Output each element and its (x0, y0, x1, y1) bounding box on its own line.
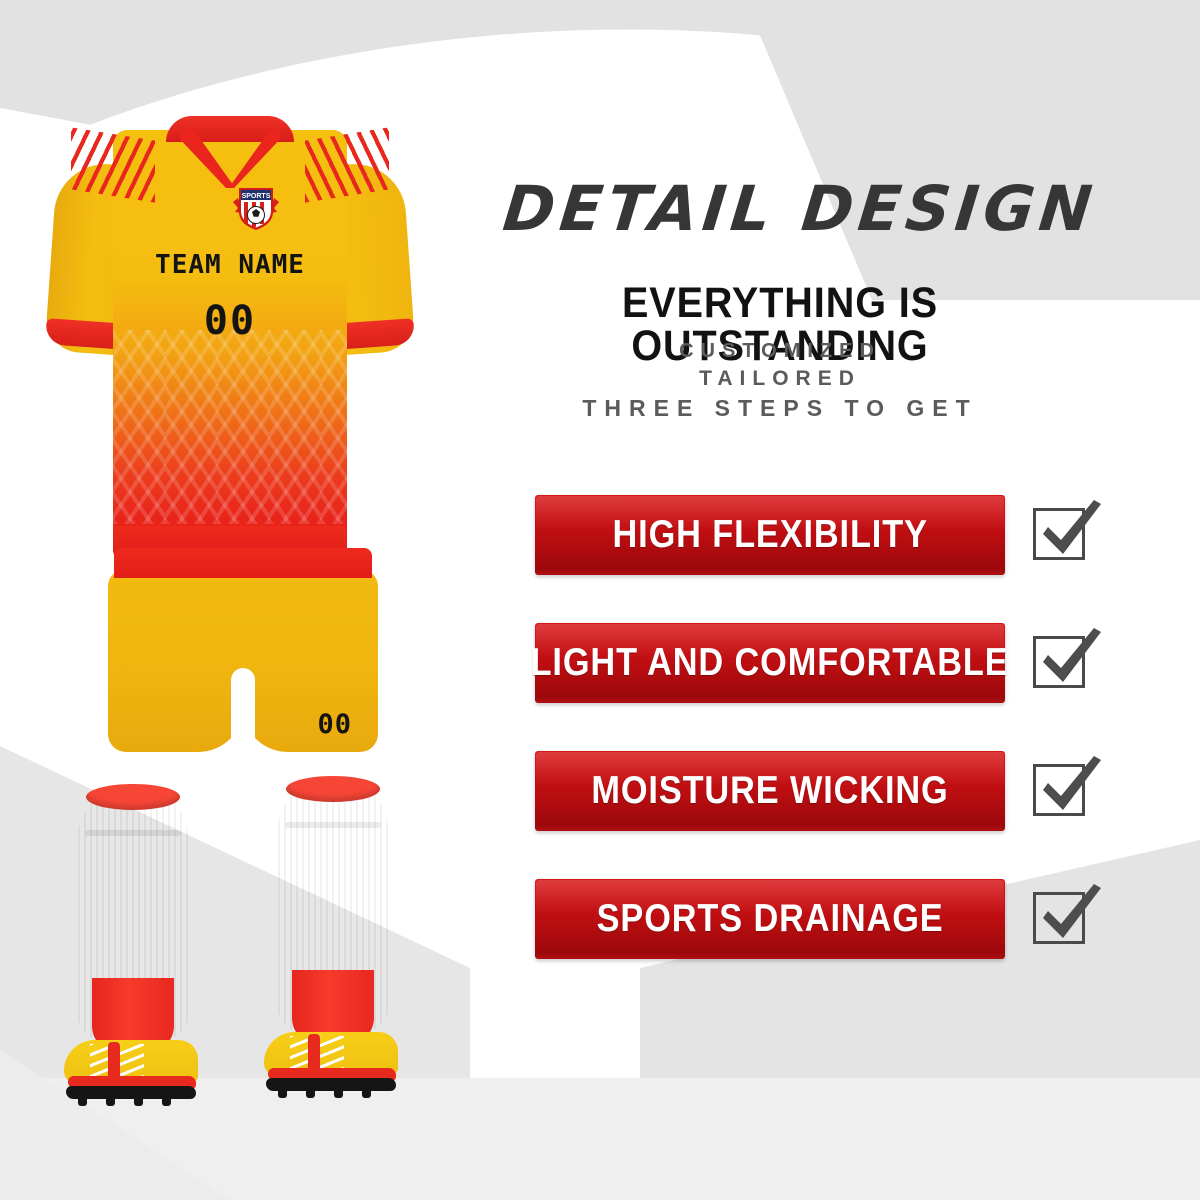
feature-row: LIGHT AND COMFORTABLE (535, 623, 1135, 703)
feature-list: HIGH FLEXIBILITY LIGHT AND COMFORTABLE (535, 495, 1135, 1007)
jersey-v-collar (166, 116, 294, 190)
cleat-stud (362, 1090, 371, 1098)
cleat-stud (162, 1098, 171, 1106)
check-icon (1031, 618, 1107, 696)
feature-label: LIGHT AND COMFORTABLE (531, 641, 1009, 685)
tagline-group: CUSTOMIZED TAILORED THREE STEPS TO GET (450, 338, 1110, 424)
feature-label: SPORTS DRAINAGE (597, 897, 944, 941)
feature-row: HIGH FLEXIBILITY (535, 495, 1135, 575)
feature-row: MOISTURE WICKING (535, 751, 1135, 831)
jersey-team-name: TEAM NAME (155, 250, 305, 280)
soccer-uniform-illustration: SPORTS TEAM NAME 00 00 (0, 0, 500, 1200)
team-crest-icon: SPORTS (233, 182, 279, 232)
cleat-stud (306, 1090, 315, 1098)
feature-label: MOISTURE WICKING (591, 769, 948, 813)
leg-right (278, 782, 388, 1032)
feature-banner-high-flexibility[interactable]: HIGH FLEXIBILITY (535, 495, 1005, 575)
feature-row: SPORTS DRAINAGE (535, 879, 1135, 959)
checkbox-sports-drainage[interactable] (1033, 892, 1085, 944)
tagline-three-steps: THREE STEPS TO GET (450, 393, 1110, 424)
jersey-shoulder-stripes-left (71, 127, 155, 202)
feature-banner-light-and-comfortable[interactable]: LIGHT AND COMFORTABLE (535, 623, 1005, 703)
cleat-stud (334, 1090, 343, 1098)
shorts-graphic: 00 (108, 548, 378, 758)
jersey-graphic: SPORTS TEAM NAME 00 (55, 120, 405, 570)
tagline-tailored: TAILORED (450, 365, 1110, 393)
checkbox-light-and-comfortable[interactable] (1033, 636, 1085, 688)
product-detail-graphic: SPORTS TEAM NAME 00 00 (0, 0, 1200, 1200)
jersey-chevron-pattern (113, 330, 347, 524)
cleat-lace-tongue-left (108, 1042, 120, 1080)
checkbox-high-flexibility[interactable] (1033, 508, 1085, 560)
cleat-right (264, 1028, 398, 1100)
shorts-number: 00 (317, 709, 352, 740)
check-icon (1031, 874, 1107, 952)
feature-banner-sports-drainage[interactable]: SPORTS DRAINAGE (535, 879, 1005, 959)
crest-label: SPORTS (242, 193, 271, 200)
cleat-stud (278, 1090, 287, 1098)
cleat-lace-tongue-right (308, 1034, 320, 1072)
check-icon (1031, 746, 1107, 824)
shorts-waistband (114, 548, 372, 578)
jersey-shoulder-stripes-right (305, 127, 389, 202)
cleat-stud (106, 1098, 115, 1106)
leg-left (78, 790, 188, 1040)
tagline-customized: CUSTOMIZED (450, 338, 1110, 365)
cleat-stud (134, 1098, 143, 1106)
feature-banner-moisture-wicking[interactable]: MOISTURE WICKING (535, 751, 1005, 831)
sock-opening-left (86, 784, 180, 810)
jersey-number: 00 (204, 298, 256, 344)
headline-title: DETAIL DESIGN (487, 178, 1114, 240)
shorts-leg-left (108, 570, 244, 752)
checkbox-moisture-wicking[interactable] (1033, 764, 1085, 816)
shorts-leg-right (242, 570, 378, 752)
check-icon (1031, 490, 1107, 568)
feature-label: HIGH FLEXIBILITY (612, 513, 927, 557)
sock-opening-right (286, 776, 380, 802)
cleat-stud (78, 1098, 87, 1106)
cleat-left (64, 1036, 198, 1108)
shorts-inseam-gap (231, 668, 255, 754)
